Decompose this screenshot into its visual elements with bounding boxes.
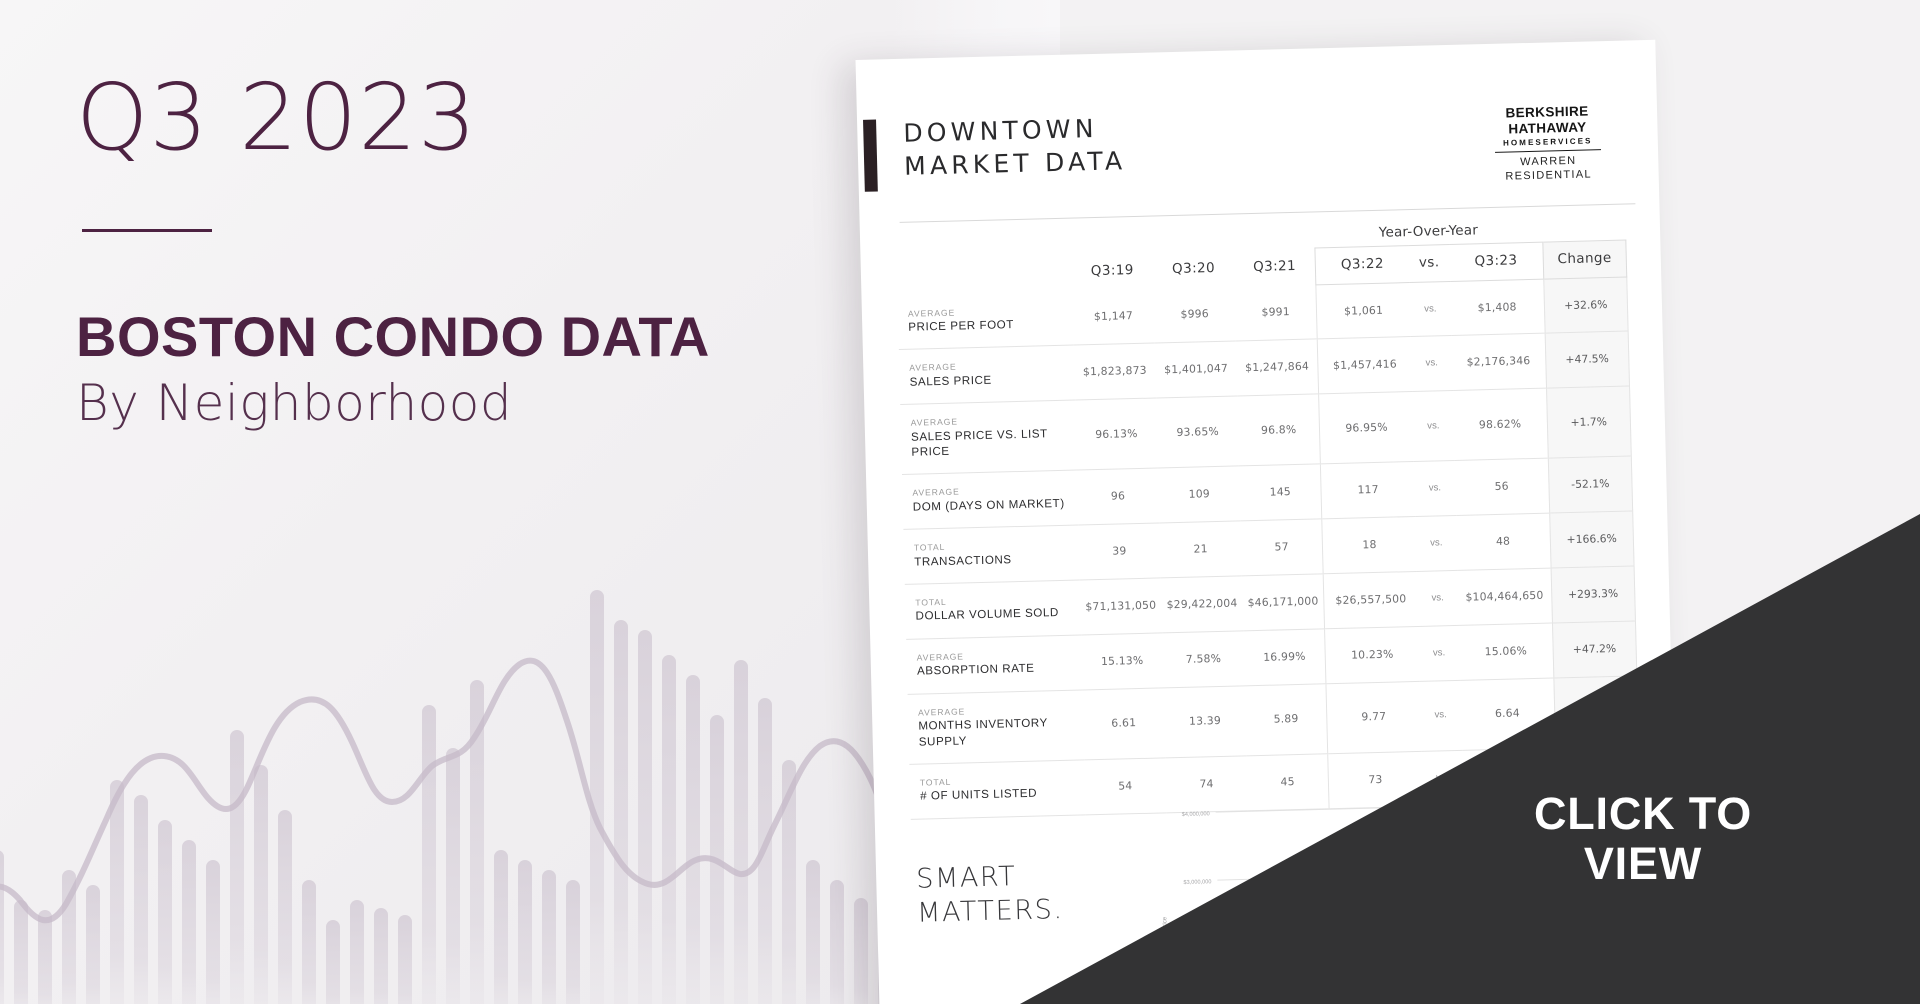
- cell-q19: 6.61: [1082, 688, 1165, 760]
- col-header-q21: Q3:21: [1234, 248, 1316, 287]
- row-label-metric: # OF UNITS LISTED: [920, 785, 1083, 805]
- cell-q21: $991: [1235, 285, 1318, 341]
- col-header-q22: Q3:22: [1315, 246, 1409, 285]
- cell-q19: 96: [1077, 468, 1160, 525]
- cell-vs: vs.: [1412, 391, 1454, 462]
- cell-vs: vs.: [1409, 282, 1451, 337]
- cta-line2: VIEW: [1584, 838, 1702, 889]
- cell-vs: vs.: [1419, 680, 1461, 751]
- page-subtitle: By Neighborhood: [76, 374, 926, 432]
- document-heading-line2: MARKET DATA: [904, 146, 1127, 181]
- page-title: BOSTON CONDO DATA: [76, 308, 926, 367]
- cell-q19: $1,823,873: [1074, 343, 1157, 400]
- cell-q23: 98.62%: [1453, 388, 1548, 461]
- cell-q22: 9.77: [1326, 681, 1421, 754]
- document-header: DOWNTOWN MARKET DATA BERKSHIRE HATHAWAY …: [903, 98, 1629, 208]
- row-label-metric: MONTHS INVENTORY SUPPLY: [918, 715, 1081, 750]
- cell-q22: $26,557,500: [1323, 572, 1418, 629]
- cell-change: +47.2%: [1552, 621, 1637, 678]
- row-label-metric: SALES PRICE: [909, 370, 1072, 390]
- smart-matters-tagline: SMART MATTERS.: [916, 859, 1064, 931]
- row-label-metric: TRANSACTIONS: [914, 550, 1077, 570]
- cell-change: +1.7%: [1546, 386, 1631, 458]
- cell-q22: 10.23%: [1325, 626, 1420, 683]
- cell-q21: 145: [1239, 464, 1322, 521]
- cell-vs: vs.: [1417, 570, 1459, 626]
- title-divider: [82, 229, 212, 232]
- quarter-title: Q3 2023: [76, 70, 926, 167]
- cell-q22: 117: [1320, 462, 1415, 519]
- cell-q20: 93.65%: [1156, 396, 1239, 468]
- row-label: TOTAL DOLLAR VOLUME SOLD: [905, 580, 1081, 639]
- hero-title-block: Q3 2023 BOSTON CONDO DATA By Neighborhoo…: [76, 70, 926, 432]
- cell-vs: vs.: [1411, 336, 1453, 392]
- cell-q23: $1,408: [1450, 279, 1545, 336]
- cell-vs: vs.: [1414, 461, 1456, 517]
- col-header-q19: Q3:19: [1071, 252, 1153, 291]
- cell-q19: 15.13%: [1081, 633, 1164, 690]
- cell-change: +47.5%: [1545, 331, 1630, 388]
- row-label: TOTAL # OF UNITS LISTED: [909, 760, 1085, 819]
- row-label: AVERAGE SALES PRICE: [899, 345, 1075, 404]
- cell-change: +166.6%: [1549, 511, 1634, 568]
- brand-line-hathaway: HATHAWAY: [1491, 119, 1603, 137]
- cell-q21: 96.8%: [1237, 394, 1320, 466]
- cell-q19: 96.13%: [1075, 398, 1158, 470]
- cell-change: +293.3%: [1551, 566, 1636, 623]
- cell-q21: 16.99%: [1243, 629, 1326, 686]
- cell-vs: vs.: [1418, 625, 1460, 681]
- row-label: AVERAGE PRICE PER FOOT: [897, 291, 1073, 350]
- col-header-change: Change: [1543, 240, 1627, 279]
- row-label: AVERAGE ABSORPTION RATE: [906, 635, 1082, 694]
- cell-vs: vs.: [1415, 516, 1457, 572]
- cell-q21: 5.89: [1245, 683, 1328, 755]
- cell-q23: $2,176,346: [1451, 333, 1546, 390]
- row-label-metric: PRICE PER FOOT: [908, 316, 1071, 336]
- cell-q20: $29,422,004: [1161, 576, 1244, 633]
- cell-q20: 13.39: [1164, 686, 1247, 758]
- row-label: AVERAGE SALES PRICE VS. LIST PRICE: [900, 400, 1076, 475]
- group-header-spacer-right: [1542, 219, 1626, 243]
- brand-divider: [1495, 149, 1601, 153]
- cell-q21: 57: [1241, 519, 1324, 576]
- cell-change: +32.6%: [1543, 277, 1628, 333]
- cell-q19: $71,131,050: [1079, 578, 1162, 635]
- berkshire-hathaway-logo: BERKSHIRE HATHAWAY HOMESERVICES WARREN R…: [1491, 103, 1605, 184]
- row-label-metric: DOM (DAYS ON MARKET): [913, 495, 1076, 515]
- tagline-line1: SMART: [916, 861, 1017, 895]
- cell-q20: $996: [1153, 287, 1236, 343]
- document-heading-line1: DOWNTOWN: [903, 114, 1098, 148]
- cell-change: -52.1%: [1548, 456, 1633, 513]
- cell-q20: $1,401,047: [1155, 341, 1238, 398]
- tagline-line2: MATTERS.: [917, 894, 1064, 929]
- cta-line1: CLICK TO: [1534, 788, 1752, 839]
- row-label: TOTAL TRANSACTIONS: [903, 525, 1079, 584]
- cell-q22: $1,061: [1316, 283, 1411, 340]
- col-header-vs: vs.: [1408, 245, 1450, 283]
- mini-chart-ytick-1: $3,000,000: [1183, 879, 1211, 886]
- click-to-view-label[interactable]: CLICK TO VIEW: [1534, 789, 1752, 888]
- row-label-metric: DOLLAR VOLUME SOLD: [915, 605, 1078, 625]
- brand-line-berkshire: BERKSHIRE: [1491, 103, 1603, 121]
- header-divider: [900, 203, 1636, 223]
- cell-q22: 96.95%: [1319, 392, 1414, 465]
- row-label-metric: ABSORPTION RATE: [917, 660, 1080, 680]
- cell-q20: 109: [1158, 466, 1241, 523]
- cell-q23: $104,464,650: [1457, 568, 1552, 625]
- col-header-metric: [897, 254, 1073, 295]
- brand-line-residential: RESIDENTIAL: [1493, 168, 1605, 184]
- col-header-q20: Q3:20: [1152, 250, 1234, 289]
- cell-q20: 7.58%: [1162, 631, 1245, 688]
- cell-q21: $46,171,000: [1242, 574, 1325, 631]
- brand-line-homeservices: HOMESERVICES: [1492, 136, 1604, 148]
- accent-bar: [863, 119, 878, 191]
- cell-q22: $1,457,416: [1317, 337, 1412, 394]
- cell-q23: 56: [1455, 458, 1550, 515]
- cell-q19: $1,147: [1072, 289, 1155, 345]
- cell-q22: 18: [1322, 517, 1417, 574]
- cell-q23: 48: [1456, 513, 1551, 570]
- row-label-metric: SALES PRICE VS. LIST PRICE: [911, 425, 1074, 460]
- col-header-q23: Q3:23: [1449, 242, 1543, 281]
- mini-chart-ytick-0: $4,000,000: [1182, 811, 1210, 818]
- row-label: AVERAGE MONTHS INVENTORY SUPPLY: [908, 690, 1084, 765]
- row-label: AVERAGE DOM (DAYS ON MARKET): [902, 470, 1078, 529]
- cell-q20: 21: [1159, 521, 1242, 578]
- cell-q23: 15.06%: [1459, 623, 1554, 680]
- cell-q21: $1,247,864: [1236, 339, 1319, 396]
- cell-q19: 39: [1078, 523, 1161, 580]
